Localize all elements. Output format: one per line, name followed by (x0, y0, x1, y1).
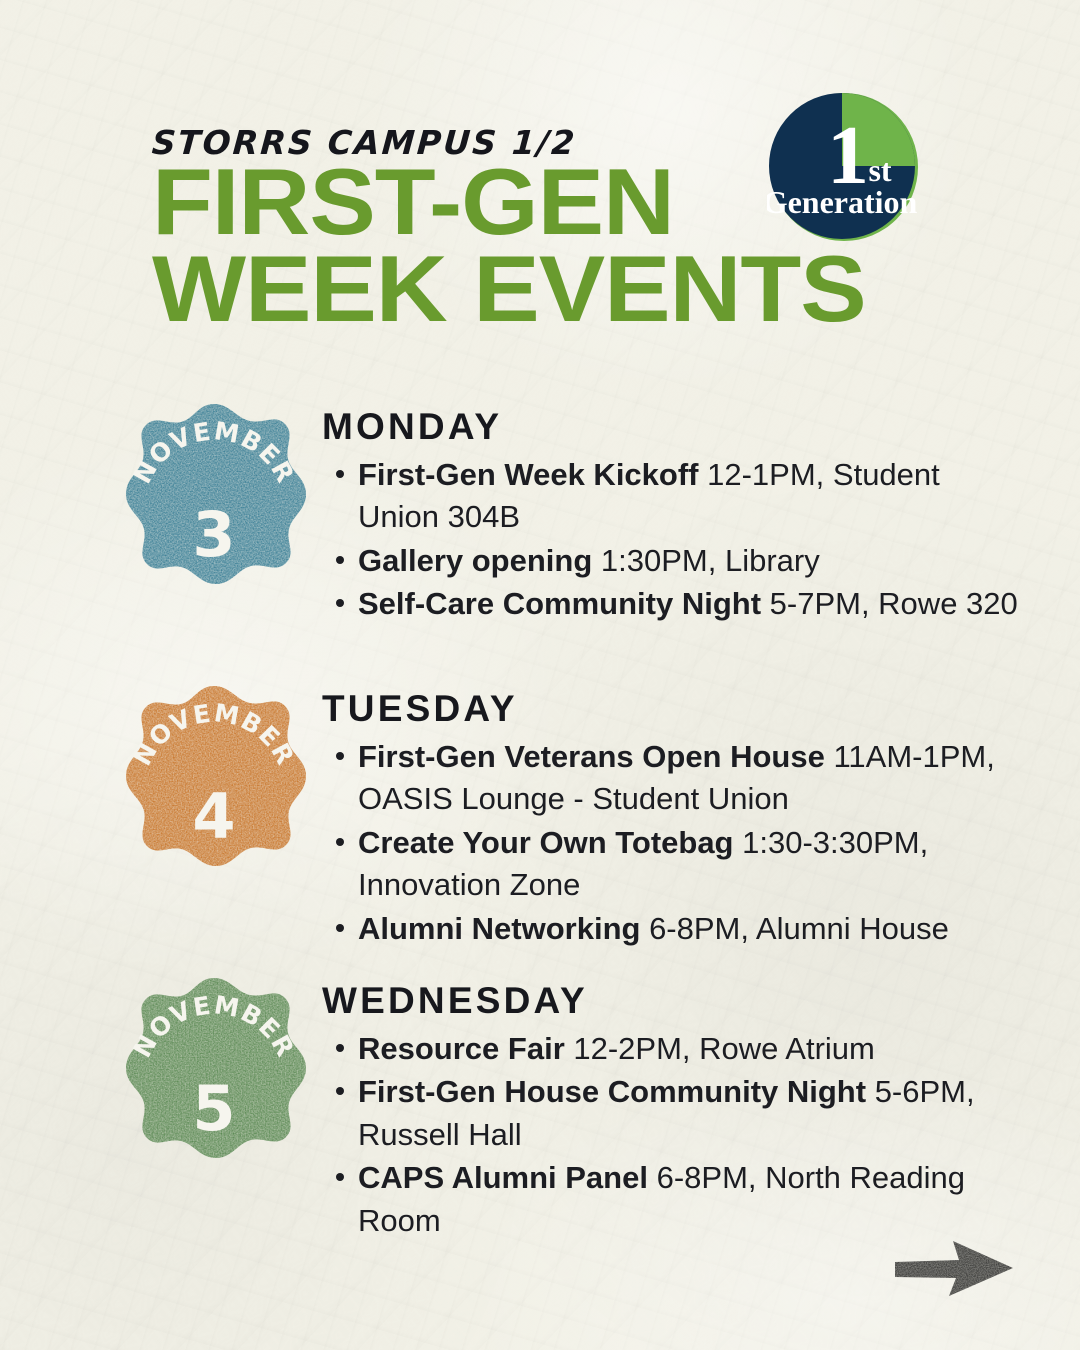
badge-day-number-tuesday: 4 (112, 786, 316, 848)
events-wednesday: WEDNESDAY Resource Fair 12-2PM, Rowe Atr… (322, 980, 1022, 1243)
list-item: First-Gen Week Kickoff 12-1PM, Student U… (322, 454, 1022, 539)
event-name: First-Gen Veterans Open House (358, 739, 825, 774)
logo-word: Generation (767, 184, 918, 220)
event-detail: 1:30PM, Library (592, 543, 819, 578)
svg-text:NOVEMBER: NOVEMBER (127, 698, 300, 770)
date-badge-monday: NOVEMBER 3 (112, 398, 316, 602)
day-heading-wednesday: WEDNESDAY (322, 980, 1022, 1022)
day-heading-tuesday: TUESDAY (322, 688, 1022, 730)
list-item: First-Gen Veterans Open House 11AM-1PM, … (322, 736, 1022, 821)
list-item: Resource Fair 12-2PM, Rowe Atrium (322, 1028, 1022, 1070)
date-badge-wednesday: NOVEMBER 5 (112, 972, 316, 1176)
date-badge-tuesday: NOVEMBER 4 (112, 680, 316, 884)
badge-day-number-monday: 3 (112, 504, 316, 566)
list-item: Self-Care Community Night 5-7PM, Rowe 32… (322, 583, 1022, 625)
title-line-2: WEEK EVENTS (152, 245, 979, 332)
event-name: Alumni Networking (358, 911, 640, 946)
events-monday: MONDAY First-Gen Week Kickoff 12-1PM, St… (322, 406, 1022, 627)
list-item: CAPS Alumni Panel 6-8PM, North Reading R… (322, 1157, 1022, 1242)
event-name: CAPS Alumni Panel (358, 1160, 648, 1195)
event-detail: 12-2PM, Rowe Atrium (565, 1031, 875, 1066)
list-item: Gallery opening 1:30PM, Library (322, 540, 1022, 582)
event-name: First-Gen House Community Night (358, 1074, 866, 1109)
day-heading-monday: MONDAY (322, 406, 1022, 448)
event-name: Resource Fair (358, 1031, 565, 1066)
list-item: First-Gen House Community Night 5-6PM, R… (322, 1071, 1022, 1156)
events-tuesday: TUESDAY First-Gen Veterans Open House 11… (322, 688, 1022, 951)
list-item: Alumni Networking 6-8PM, Alumni House (322, 908, 1022, 950)
event-name: First-Gen Week Kickoff (358, 457, 699, 492)
badge-day-number-wednesday: 5 (112, 1078, 316, 1140)
event-name: Self-Care Community Night (358, 586, 761, 621)
list-item: Create Your Own Totebag 1:30-3:30PM, Inn… (322, 822, 1022, 907)
event-name: Gallery opening (358, 543, 592, 578)
poster-canvas: STORRS CAMPUS 1/2 FIRST-GEN WEEK EVENTS … (0, 0, 1080, 1350)
first-generation-logo: 1 st Generation (767, 89, 921, 245)
event-name: Create Your Own Totebag (358, 825, 734, 860)
arrow-right-icon[interactable] (893, 1232, 1017, 1306)
event-list-tuesday: First-Gen Veterans Open House 11AM-1PM, … (322, 736, 1022, 950)
svg-text:NOVEMBER: NOVEMBER (127, 416, 300, 488)
event-list-monday: First-Gen Week Kickoff 12-1PM, Student U… (322, 454, 1022, 626)
event-detail: 5-7PM, Rowe 320 (761, 586, 1018, 621)
svg-text:NOVEMBER: NOVEMBER (127, 990, 300, 1062)
event-detail: 6-8PM, Alumni House (640, 911, 948, 946)
event-list-wednesday: Resource Fair 12-2PM, Rowe Atrium First-… (322, 1028, 1022, 1242)
logo-ordinal-suffix: st (868, 152, 891, 188)
